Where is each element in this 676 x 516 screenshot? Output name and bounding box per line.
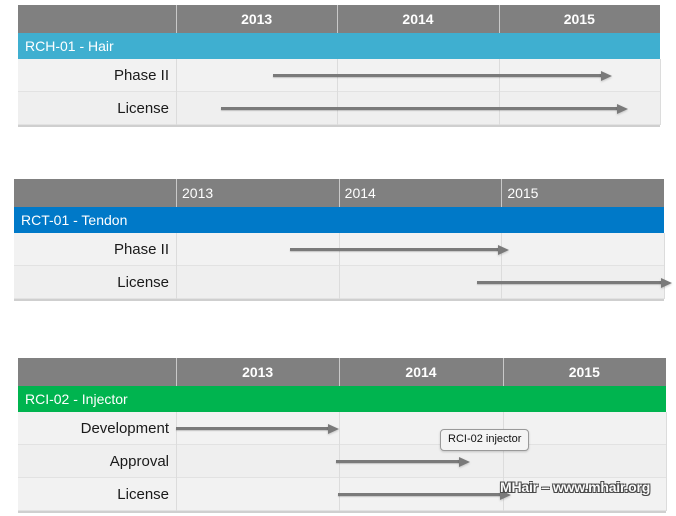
watermark-label: MHair – www.mhair.org bbox=[500, 479, 650, 495]
task-label: License bbox=[18, 478, 176, 510]
header-column-separator bbox=[339, 179, 340, 207]
header-label-cell bbox=[14, 179, 176, 207]
year-header-2015: 2015 bbox=[501, 179, 664, 207]
task-row: Approval bbox=[18, 445, 666, 478]
task-arrow[interactable] bbox=[290, 248, 500, 251]
project-label: RCT-01 - Tendon bbox=[21, 212, 127, 228]
header-column-separator bbox=[176, 358, 177, 386]
task-arrow[interactable] bbox=[221, 107, 618, 110]
timeline-gridline bbox=[176, 478, 177, 511]
task-label: Development bbox=[18, 412, 176, 444]
task-row: Phase II bbox=[14, 233, 664, 266]
year-header-2013: 2013 bbox=[176, 5, 337, 33]
timeline-gridline bbox=[339, 412, 340, 445]
timeline-gridline bbox=[339, 266, 340, 299]
task-arrow[interactable] bbox=[176, 427, 329, 430]
header-column-separator bbox=[499, 5, 500, 33]
header-column-separator bbox=[176, 179, 177, 207]
year-header-row: 201320142015 bbox=[18, 358, 666, 386]
arrow-head-icon bbox=[328, 424, 339, 434]
task-rows: Phase IILicense bbox=[18, 59, 660, 125]
timeline-gridline bbox=[666, 412, 667, 445]
project-band: RCI-02 - Injector bbox=[18, 386, 666, 412]
arrow-head-icon bbox=[459, 457, 470, 467]
timeline-gridline bbox=[176, 233, 177, 266]
timeline-gridline bbox=[176, 59, 177, 92]
arrow-head-icon bbox=[601, 71, 612, 81]
watermark-text: MHair – www.mhair.org bbox=[500, 479, 650, 495]
year-header-2015: 2015 bbox=[499, 5, 660, 33]
table-bottom-border bbox=[14, 299, 664, 301]
task-row: License bbox=[18, 92, 660, 125]
task-label: Phase II bbox=[14, 233, 176, 265]
table-bottom-border bbox=[18, 511, 666, 513]
header-column-separator bbox=[339, 358, 340, 386]
task-arrow[interactable] bbox=[273, 74, 602, 77]
year-header-2014: 2014 bbox=[339, 358, 502, 386]
project-band: RCH-01 - Hair bbox=[18, 33, 660, 59]
arrow-head-icon bbox=[498, 245, 509, 255]
task-arrow[interactable] bbox=[336, 460, 460, 463]
header-column-separator bbox=[337, 5, 338, 33]
year-header-2013: 2013 bbox=[176, 358, 339, 386]
year-header-2014: 2014 bbox=[337, 5, 498, 33]
header-column-separator bbox=[503, 358, 504, 386]
timeline-gridline bbox=[176, 266, 177, 299]
year-header-2013: 2013 bbox=[176, 179, 339, 207]
arrow-head-icon bbox=[617, 104, 628, 114]
project-label: RCI-02 - Injector bbox=[25, 391, 128, 407]
header-label-cell bbox=[18, 5, 176, 33]
timeline-gridline bbox=[176, 445, 177, 478]
task-label: License bbox=[18, 92, 176, 124]
task-row: Development bbox=[18, 412, 666, 445]
header-column-separator bbox=[176, 5, 177, 33]
year-header-row: 201320142015 bbox=[14, 179, 664, 207]
tooltip-callout-rci-02-injector[interactable]: RCI-02 injector bbox=[440, 429, 529, 451]
task-rows: Phase IILicense bbox=[14, 233, 664, 299]
table-bottom-border bbox=[18, 125, 660, 127]
arrow-head-icon bbox=[661, 278, 672, 288]
task-label: Phase II bbox=[18, 59, 176, 91]
task-row: License bbox=[14, 266, 664, 299]
task-rows: DevelopmentApprovalLicense bbox=[18, 412, 666, 511]
timeline-gridline bbox=[666, 478, 667, 511]
timeline-gridline bbox=[660, 92, 661, 125]
timeline-gridline bbox=[660, 59, 661, 92]
task-label: Approval bbox=[18, 445, 176, 477]
gantt-chart-rct-01: 201320142015 RCT-01 - Tendon Phase IILic… bbox=[14, 179, 664, 301]
year-header-2015: 2015 bbox=[503, 358, 666, 386]
task-arrow[interactable] bbox=[338, 493, 501, 496]
task-label: License bbox=[14, 266, 176, 298]
timeline-gridline bbox=[176, 92, 177, 125]
task-row: Phase II bbox=[18, 59, 660, 92]
header-label-cell bbox=[18, 358, 176, 386]
header-column-separator bbox=[501, 179, 502, 207]
project-band: RCT-01 - Tendon bbox=[14, 207, 664, 233]
task-arrow[interactable] bbox=[477, 281, 662, 284]
timeline-gridline bbox=[666, 445, 667, 478]
timeline-gridline bbox=[664, 233, 665, 266]
year-header-2014: 2014 bbox=[339, 179, 502, 207]
gantt-chart-rch-01: 201320142015 RCH-01 - Hair Phase IILicen… bbox=[18, 5, 660, 127]
project-label: RCH-01 - Hair bbox=[25, 38, 114, 54]
tooltip-label: RCI-02 injector bbox=[448, 433, 521, 445]
year-header-row: 201320142015 bbox=[18, 5, 660, 33]
